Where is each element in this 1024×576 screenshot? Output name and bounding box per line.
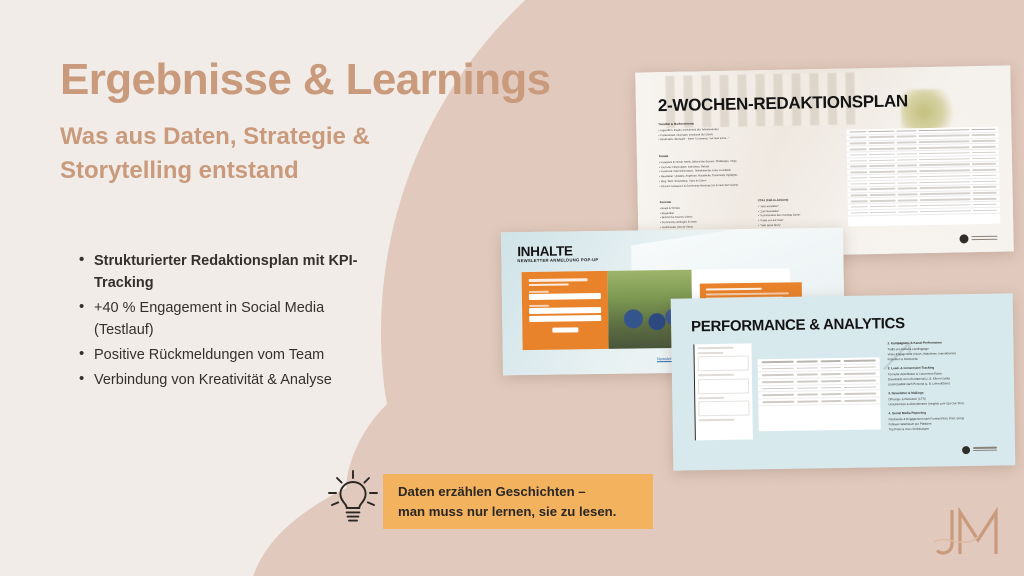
- table-cell: [972, 134, 996, 136]
- table-cell: [797, 374, 818, 376]
- table-cell: [897, 188, 917, 190]
- table-cell: [870, 205, 896, 207]
- welcome-heading-line: [706, 288, 762, 291]
- vorname-input[interactable]: [529, 293, 601, 300]
- table-cell: [797, 380, 818, 382]
- table-cell: [896, 136, 916, 138]
- table-cell: [850, 137, 867, 139]
- table-cell: [919, 181, 971, 184]
- table-cell: [973, 186, 997, 188]
- table-cell: [821, 400, 842, 402]
- table-cell: [762, 381, 794, 383]
- results-bullet-list: Strukturierter Redaktionsplan mit KPI-Tr…: [76, 250, 366, 394]
- table-cell: [850, 177, 867, 179]
- table-cell: [844, 366, 876, 368]
- logo-wordmark: [973, 447, 997, 453]
- plan-section-tonalitaet: Tonalität & Markenstimme Jugendlich, kre…: [658, 119, 833, 144]
- table-cell: [870, 200, 896, 202]
- table-cell: [973, 198, 997, 200]
- table-row: [758, 398, 880, 407]
- section-heading: CTAs (Call-to-Actions): [758, 197, 850, 204]
- table-cell: [972, 128, 996, 130]
- table-cell: [849, 131, 866, 133]
- table-cell: [869, 159, 895, 161]
- field-label-email: [529, 305, 549, 307]
- table-cell: [973, 209, 997, 211]
- table-cell: [898, 205, 918, 207]
- table-cell: [973, 203, 997, 205]
- table-cell: [868, 130, 894, 132]
- table-cell: [850, 148, 867, 150]
- table-cell: [870, 211, 896, 213]
- section-heading: Formate: [660, 198, 752, 205]
- slide-canvas: Ergebnisse & Learnings Was aus Daten, St…: [0, 0, 1024, 576]
- table-cell: [918, 140, 970, 143]
- table-cell: [897, 159, 917, 161]
- table-cell: [896, 141, 916, 143]
- table-cell: [762, 374, 794, 376]
- table-cell: [820, 373, 841, 375]
- table-cell: [918, 152, 970, 155]
- card-title-performance: PERFORMANCE & ANALYTICS: [691, 315, 905, 335]
- table-cell: [919, 163, 971, 166]
- quote-callout-text: Daten erzählen Geschichten – man muss nu…: [398, 482, 616, 521]
- jm-monogram-logo: [932, 504, 1006, 562]
- table-cell: [850, 165, 867, 167]
- table-cell: [762, 394, 794, 396]
- table-cell: [844, 386, 876, 388]
- card-footer-logo: [962, 446, 997, 455]
- table-cell: [972, 146, 996, 148]
- table-cell: [851, 189, 868, 191]
- section-line: Klickraten & Reichweite: [888, 356, 998, 363]
- table-cell: [850, 160, 867, 162]
- table-cell: [919, 158, 971, 161]
- table-cell: [821, 387, 842, 389]
- table-cell: [797, 401, 818, 403]
- kpi-table: [758, 357, 881, 431]
- quote-line-2: man muss nur lernen, sie zu lesen.: [398, 504, 616, 519]
- table-cell: [850, 183, 867, 185]
- logo-wordmark: [971, 235, 997, 241]
- card-footer-logo: [959, 234, 997, 244]
- quote-line-1: Daten erzählen Geschichten –: [398, 484, 586, 499]
- table-cell: [844, 393, 876, 395]
- table-cell: [869, 165, 895, 167]
- table-cell: [897, 199, 917, 201]
- table-cell: [844, 359, 876, 361]
- table-cell: [797, 387, 818, 389]
- table-cell: [844, 373, 876, 375]
- table-cell: [918, 135, 970, 138]
- table-cell: [844, 380, 876, 382]
- table-cell: [869, 142, 895, 144]
- table-cell: [897, 176, 917, 178]
- form-heading-line: [529, 278, 588, 281]
- table-cell: [972, 169, 996, 171]
- quote-callout: Daten erzählen Geschichten – man muss nu…: [383, 474, 653, 529]
- table-cell: [762, 361, 794, 363]
- table-cell: [850, 171, 867, 173]
- table-cell: [869, 176, 895, 178]
- analytics-dashboard-screenshot: [693, 343, 753, 440]
- table-cell: [919, 175, 971, 178]
- table-cell: [868, 136, 894, 138]
- table-cell: [898, 211, 918, 213]
- table-cell: [972, 140, 996, 142]
- table-cell: [919, 198, 971, 201]
- table-cell: [972, 157, 996, 159]
- table-cell: [820, 360, 841, 362]
- table-cell: [844, 400, 876, 402]
- table-cell: [821, 393, 842, 395]
- list-item: +40 % Engagement in Social Media (Testla…: [76, 297, 366, 341]
- table-cell: [896, 130, 916, 132]
- table-cell: [851, 200, 868, 202]
- table-cell: [762, 401, 794, 403]
- table-cell: [869, 153, 895, 155]
- table-cell: [919, 210, 971, 213]
- table-cell: [851, 194, 868, 196]
- table-cell: [869, 182, 895, 184]
- geburtsdatum-input[interactable]: [529, 315, 601, 322]
- table-cell: [851, 206, 868, 208]
- table-cell: [897, 165, 917, 167]
- signup-form: [522, 271, 609, 350]
- table-cell: [897, 153, 917, 155]
- table-cell: [973, 192, 997, 194]
- submit-button[interactable]: [552, 327, 578, 332]
- table-cell: [973, 180, 997, 182]
- section-line: Top Posts & UGC-Verlinkungen: [889, 426, 999, 433]
- table-cell: [762, 367, 794, 369]
- email-input[interactable]: [529, 307, 601, 314]
- table-cell: [797, 367, 818, 369]
- table-cell: [851, 212, 868, 214]
- table-cell: [919, 192, 971, 195]
- table-cell: [972, 163, 996, 165]
- list-item: Positive Rückmeldungen vom Team: [76, 344, 366, 366]
- performance-section-list: 1. Kampagnen- & Kanal-Performance Traffi…: [887, 340, 998, 433]
- table-cell: [972, 175, 996, 177]
- table-cell: [869, 188, 895, 190]
- table-cell: [919, 169, 971, 172]
- table-cell: [972, 151, 996, 153]
- table-cell: [897, 182, 917, 184]
- table-cell: [918, 129, 970, 132]
- list-item: Strukturierter Redaktionsplan mit KPI-Tr…: [76, 250, 366, 294]
- logo-mark-icon: [962, 446, 970, 454]
- logo-mark-icon: [959, 234, 968, 243]
- table-cell: [897, 193, 917, 195]
- table-cell: [850, 154, 867, 156]
- table-cell: [919, 187, 971, 190]
- slide-thumbnail-performance[interactable]: PERFORMANCE & ANALYTICS 1. Kampagnen- & …: [671, 293, 1016, 470]
- table-cell: [918, 146, 970, 149]
- redaktionsplan-table: [846, 127, 1000, 227]
- section-line: Unsubscribes & Abmelderaten (Insights zu…: [888, 401, 998, 408]
- plan-section-kanaele: Kanäle Instagram & TikTok: Reels, Behind…: [659, 151, 845, 190]
- page-subtitle: Was aus Daten, Strategie & Storytelling …: [60, 120, 460, 188]
- table-cell: [919, 204, 971, 207]
- table-cell: [762, 388, 794, 390]
- table-cell: [820, 380, 841, 382]
- table-cell: [870, 194, 896, 196]
- table-cell: [820, 367, 841, 369]
- field-label-vorname: [529, 291, 549, 293]
- table-cell: [869, 148, 895, 150]
- page-title: Ergebnisse & Learnings: [60, 56, 551, 104]
- list-item: Verbindung von Kreativität & Analyse: [76, 369, 366, 391]
- table-cell: [797, 360, 818, 362]
- table-cell: [896, 147, 916, 149]
- table-cell: [850, 142, 867, 144]
- table-cell: [869, 171, 895, 173]
- table-cell: [797, 394, 818, 396]
- lightbulb-icon: [325, 468, 381, 530]
- table-cell: [897, 170, 917, 172]
- section-line: Lead-Qualität nach Persona (z. B. Lehrer…: [888, 381, 998, 388]
- form-heading-line: [529, 283, 569, 286]
